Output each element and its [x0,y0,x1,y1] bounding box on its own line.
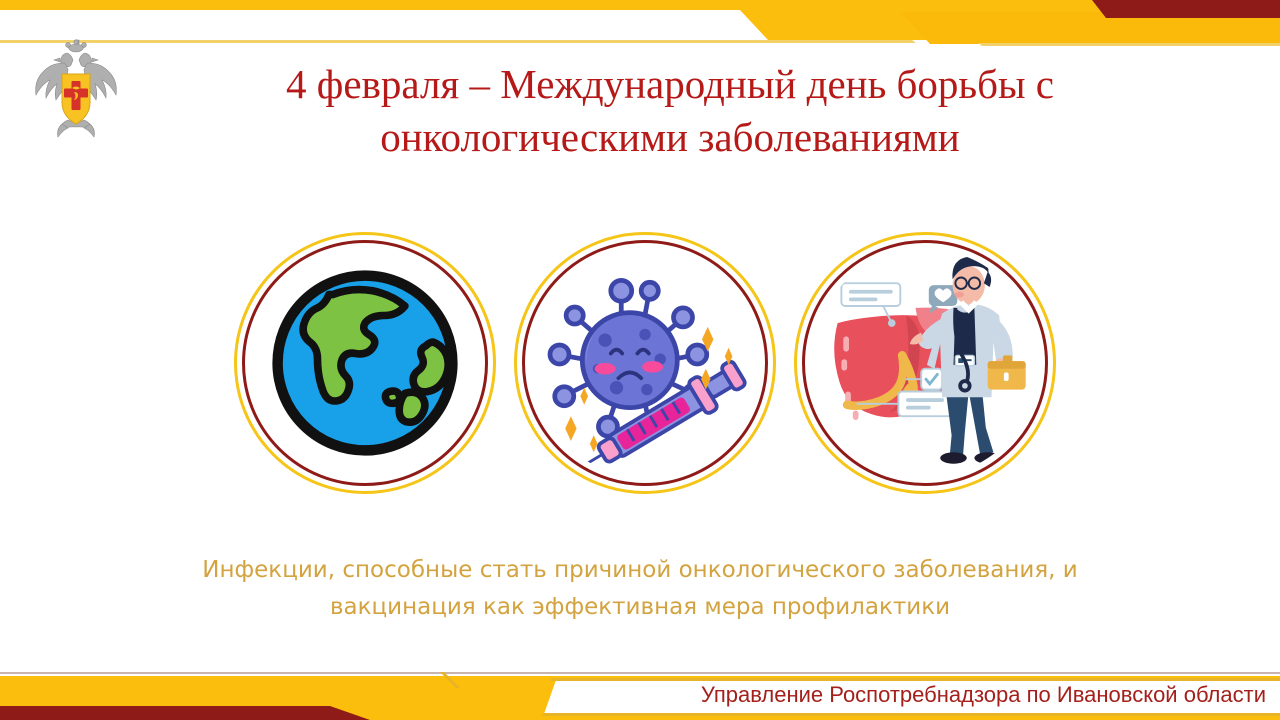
footer-organization-label: Управление Роспотребнадзора по Ивановско… [701,682,1266,708]
page-title: 4 февраля – Международный день борьбы с … [150,58,1190,164]
illustration-badges-row [0,232,1280,504]
virus-and-syringe-icon [531,249,759,477]
top-white-slab [0,10,768,38]
rospotrebnadzor-emblem-icon [28,36,124,144]
top-thin-rule-left [0,40,916,43]
footer-plate-rule-top [550,678,1280,681]
title-line-1: 4 февраля – Международный день борьбы с [150,58,1190,111]
footer-thin-rule [0,672,1280,674]
badge-globe [234,232,496,494]
subtitle-line-2: вакцинация как эффективная мера профилак… [110,589,1170,626]
earth-globe-icon [251,249,479,477]
subtitle-line-1: Инфекции, способные стать причиной онкол… [110,552,1170,589]
badge-liver [794,232,1056,494]
top-banner [0,0,1280,46]
bottom-banner: Управление Роспотребнадзора по Ивановско… [0,658,1280,720]
liver-and-doctor-icon [811,249,1039,477]
footer-plate-rule-bottom [542,713,1280,716]
top-thin-rule-right [978,43,1280,46]
title-line-2: онкологическими заболеваниями [150,111,1190,164]
badge-virus [514,232,776,494]
subtitle: Инфекции, способные стать причиной онкол… [110,552,1170,626]
top-dark-red-corner [1092,0,1280,18]
footer-dark-red-wedge [0,706,370,720]
